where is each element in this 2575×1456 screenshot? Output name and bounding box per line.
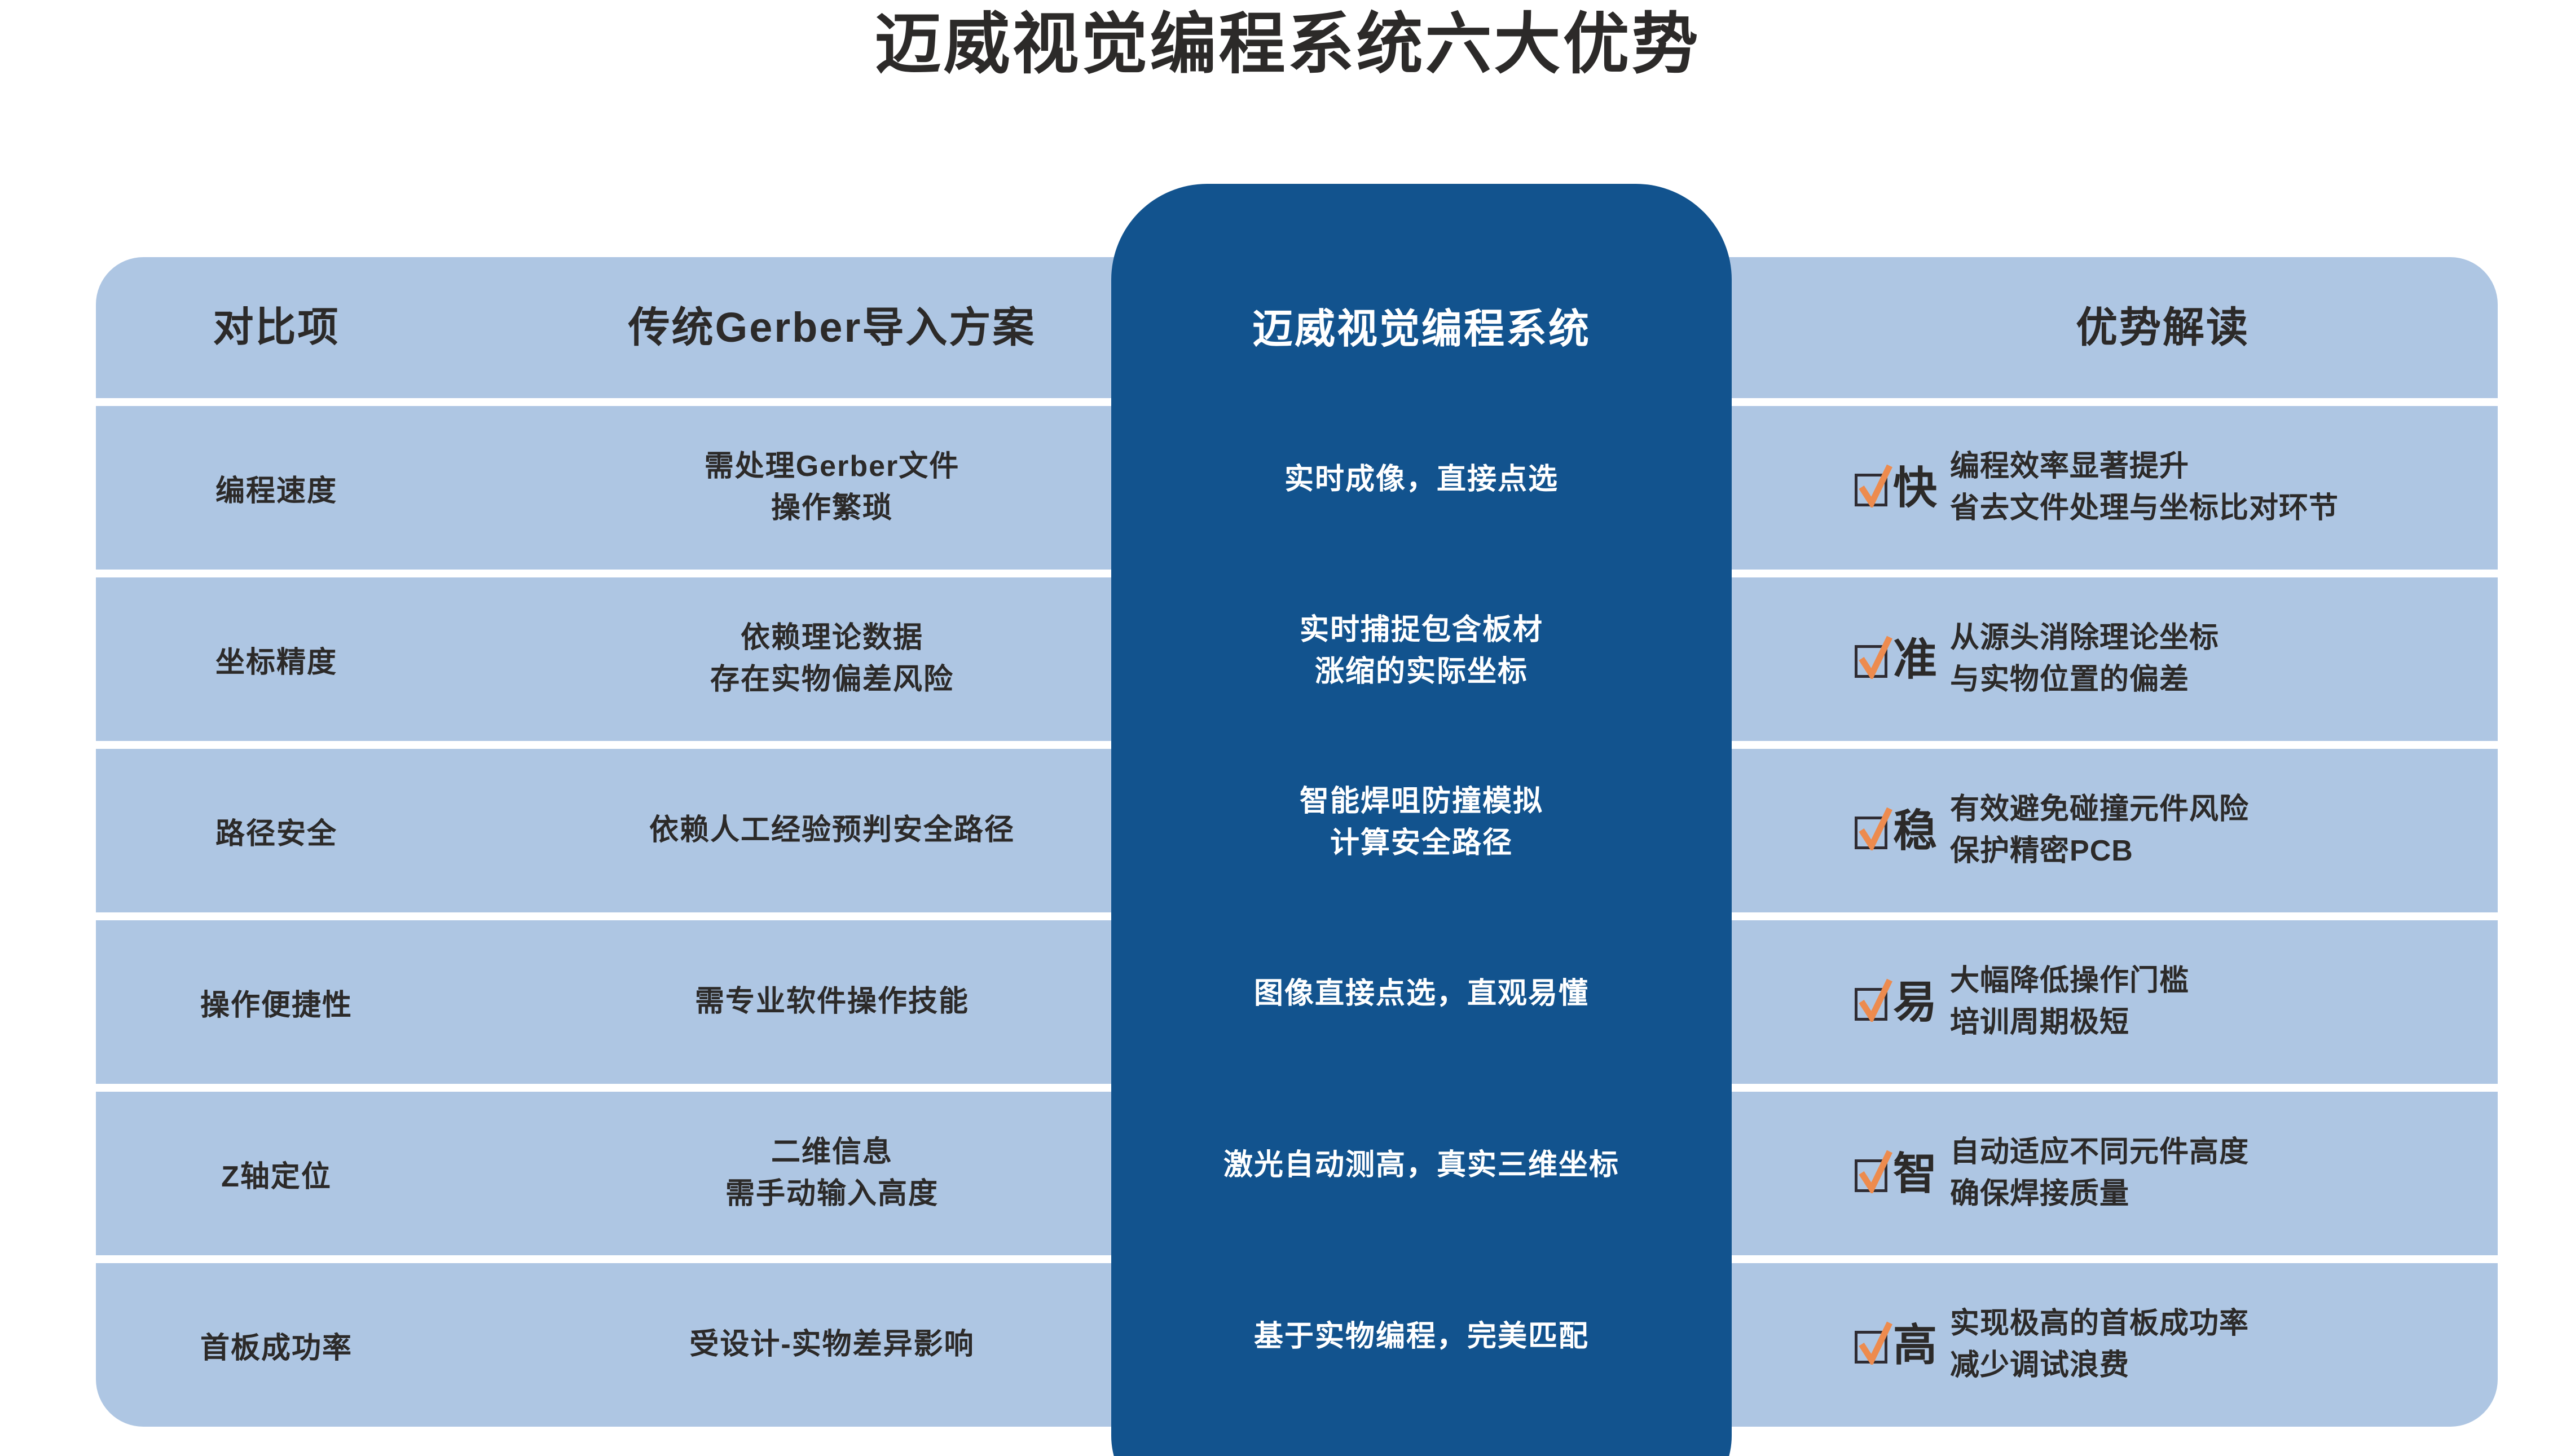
highlight-text: 基于实物编程，完美匹配	[1254, 1316, 1589, 1358]
advantage-keyword: 高	[1893, 1323, 1938, 1367]
highlight-line: 实时成像，直接点选	[1284, 463, 1559, 496]
cell-item: 路径安全	[96, 749, 457, 912]
advantage-line: 培训周期极短	[1950, 1002, 2189, 1044]
highlight-cell: 实时捕捉包含板材 涨缩的实际坐标	[1111, 570, 1732, 733]
item-label: Z轴定位	[221, 1153, 332, 1195]
traditional-text: 需处理Gerber文件 操作繁琐	[705, 446, 960, 530]
traditional-text: 需专业软件操作技能	[695, 981, 969, 1023]
traditional-line: 依赖人工经验预判安全路径	[649, 814, 1015, 846]
traditional-text: 受设计-实物差异影响	[689, 1324, 974, 1366]
advantage-line: 确保焊接质量	[1950, 1173, 2249, 1215]
cell-traditional: 需处理Gerber文件 操作繁琐	[457, 406, 1207, 570]
header-cell-item: 对比项	[96, 257, 457, 398]
checkbox-checked-icon	[1855, 642, 1890, 677]
cell-traditional: 依赖理论数据 存在实物偏差风险	[457, 577, 1207, 741]
highlight-cell: 智能焊咀防撞模拟 计算安全路径	[1111, 741, 1732, 905]
item-label: 路径安全	[215, 810, 337, 852]
advantage-keyword-group: 智	[1855, 1151, 1938, 1195]
highlight-line: 图像直接点选，直观易懂	[1254, 977, 1589, 1010]
cell-item: 编程速度	[96, 406, 457, 570]
advantage-description: 实现极高的首板成功率 减少调试浪费	[1950, 1303, 2249, 1387]
advantage-line: 有效避免碰撞元件风险	[1950, 789, 2249, 831]
advantage-keyword: 易	[1893, 980, 1938, 1024]
item-label: 编程速度	[215, 467, 337, 509]
advantage-keyword: 智	[1893, 1151, 1938, 1195]
page-title: 迈威视觉编程系统六大优势	[0, 3, 2575, 87]
highlight-line: 智能焊咀防撞模拟	[1300, 785, 1543, 818]
advantage-wrapper: 稳 有效避免碰撞元件风险 保护精密PCB	[1835, 789, 2490, 872]
header-label-item: 对比项	[213, 303, 340, 352]
highlight-line: 实时捕捉包含板材	[1300, 614, 1543, 646]
cell-traditional: 需专业软件操作技能	[457, 920, 1207, 1084]
highlight-cell: 激光自动测高，真实三维坐标	[1111, 1084, 1732, 1247]
highlight-column-body: 实时成像，直接点选 实时捕捉包含板材 涨缩的实际坐标 智能焊咀防撞模拟 计算安全…	[1111, 398, 1732, 1456]
cell-item: 首板成功率	[96, 1263, 457, 1427]
advantage-line: 保护精密PCB	[1950, 831, 2249, 872]
highlight-line: 基于实物编程，完美匹配	[1254, 1320, 1589, 1353]
header-label-traditional: 传统Gerber导入方案	[628, 303, 1036, 353]
highlight-text: 图像直接点选，直观易懂	[1254, 973, 1589, 1015]
item-label: 操作便捷性	[200, 981, 353, 1023]
traditional-line: 需专业软件操作技能	[695, 985, 969, 1018]
highlight-cell: 实时成像，直接点选	[1111, 398, 1732, 562]
advantage-keyword: 快	[1893, 466, 1938, 510]
item-label: 坐标精度	[215, 638, 337, 681]
cell-traditional: 二维信息 需手动输入高度	[457, 1092, 1207, 1255]
cell-item: 操作便捷性	[96, 920, 457, 1084]
advantage-wrapper: 智 自动适应不同元件高度 确保焊接质量	[1835, 1132, 2490, 1215]
checkbox-checked-icon	[1855, 470, 1890, 505]
traditional-line: 二维信息	[771, 1136, 893, 1168]
cell-advantage: 快 编程效率显著提升 省去文件处理与坐标比对环节	[1828, 406, 2498, 570]
cell-item: Z轴定位	[96, 1092, 457, 1255]
header-label-advantage: 优势解读	[2076, 303, 2250, 353]
cell-advantage: 易 大幅降低操作门槛 培训周期极短	[1828, 920, 2498, 1084]
highlight-text: 实时成像，直接点选	[1284, 459, 1559, 501]
advantage-line: 省去文件处理与坐标比对环节	[1950, 488, 2339, 530]
item-label: 首板成功率	[200, 1324, 353, 1366]
advantage-keyword: 准	[1893, 637, 1938, 681]
cell-advantage: 准 从源头消除理论坐标 与实物位置的偏差	[1828, 577, 2498, 741]
advantage-wrapper: 易 大幅降低操作门槛 培训周期极短	[1835, 960, 2490, 1044]
cell-traditional: 依赖人工经验预判安全路径	[457, 749, 1207, 912]
traditional-line: 依赖理论数据	[741, 621, 923, 654]
traditional-line: 需手动输入高度	[725, 1177, 939, 1210]
header-cell-advantage: 优势解读	[1828, 257, 2498, 398]
highlight-cell: 基于实物编程，完美匹配	[1111, 1255, 1732, 1419]
traditional-line: 操作繁琐	[771, 492, 893, 524]
advantage-keyword: 稳	[1893, 809, 1938, 853]
checkbox-checked-icon	[1855, 1156, 1890, 1191]
advantage-keyword-group: 稳	[1855, 809, 1938, 853]
cell-traditional: 受设计-实物差异影响	[457, 1263, 1207, 1427]
advantage-line: 从源头消除理论坐标	[1950, 617, 2219, 659]
highlight-column-header: 迈威视觉编程系统	[1111, 184, 1732, 398]
cell-advantage: 智 自动适应不同元件高度 确保焊接质量	[1828, 1092, 2498, 1255]
traditional-line: 需处理Gerber文件	[705, 450, 960, 483]
advantage-line: 自动适应不同元件高度	[1950, 1132, 2249, 1173]
advantage-wrapper: 准 从源头消除理论坐标 与实物位置的偏差	[1835, 617, 2490, 701]
traditional-text: 依赖人工经验预判安全路径	[649, 810, 1015, 851]
advantage-description: 编程效率显著提升 省去文件处理与坐标比对环节	[1950, 446, 2339, 530]
highlight-column: 迈威视觉编程系统 实时成像，直接点选 实时捕捉包含板材 涨缩的实际坐标 智能焊咀…	[1111, 184, 1732, 1456]
highlight-line: 涨缩的实际坐标	[1315, 655, 1528, 688]
traditional-line: 受设计-实物差异影响	[689, 1328, 974, 1361]
highlight-line: 激光自动测高，真实三维坐标	[1223, 1149, 1619, 1181]
highlight-text: 智能焊咀防撞模拟 计算安全路径	[1300, 781, 1543, 864]
traditional-text: 二维信息 需手动输入高度	[725, 1132, 939, 1215]
advantage-line: 编程效率显著提升	[1950, 446, 2339, 488]
advantage-line: 实现极高的首板成功率	[1950, 1303, 2249, 1345]
checkbox-checked-icon	[1855, 813, 1890, 848]
advantage-line: 减少调试浪费	[1950, 1345, 2249, 1387]
advantage-description: 有效避免碰撞元件风险 保护精密PCB	[1950, 789, 2249, 872]
infographic-page: 迈威视觉编程系统六大优势 对比项 传统Gerber导入方案 优势解读 编程速度 …	[0, 0, 2575, 1456]
cell-item: 坐标精度	[96, 577, 457, 741]
advantage-line: 与实物位置的偏差	[1950, 659, 2219, 701]
checkbox-checked-icon	[1855, 985, 1890, 1020]
highlight-line: 计算安全路径	[1330, 827, 1513, 859]
advantage-description: 大幅降低操作门槛 培训周期极短	[1950, 960, 2189, 1044]
highlight-text: 激光自动测高，真实三维坐标	[1223, 1145, 1619, 1186]
advantage-description: 从源头消除理论坐标 与实物位置的偏差	[1950, 617, 2219, 701]
advantage-keyword-group: 快	[1855, 466, 1938, 510]
cell-advantage: 高 实现极高的首板成功率 减少调试浪费	[1828, 1263, 2498, 1427]
highlight-text: 实时捕捉包含板材 涨缩的实际坐标	[1300, 610, 1543, 693]
advantage-description: 自动适应不同元件高度 确保焊接质量	[1950, 1132, 2249, 1215]
cell-advantage: 稳 有效避免碰撞元件风险 保护精密PCB	[1828, 749, 2498, 912]
advantage-line: 大幅降低操作门槛	[1950, 960, 2189, 1002]
traditional-text: 依赖理论数据 存在实物偏差风险	[710, 617, 954, 701]
traditional-line: 存在实物偏差风险	[710, 663, 954, 696]
checkbox-checked-icon	[1855, 1327, 1890, 1362]
advantage-keyword-group: 易	[1855, 980, 1938, 1024]
highlight-cell: 图像直接点选，直观易懂	[1111, 912, 1732, 1076]
advantage-keyword-group: 准	[1855, 637, 1938, 681]
header-cell-traditional: 传统Gerber导入方案	[457, 257, 1207, 398]
advantage-keyword-group: 高	[1855, 1323, 1938, 1367]
advantage-wrapper: 高 实现极高的首板成功率 减少调试浪费	[1835, 1303, 2490, 1387]
advantage-wrapper: 快 编程效率显著提升 省去文件处理与坐标比对环节	[1835, 446, 2490, 530]
